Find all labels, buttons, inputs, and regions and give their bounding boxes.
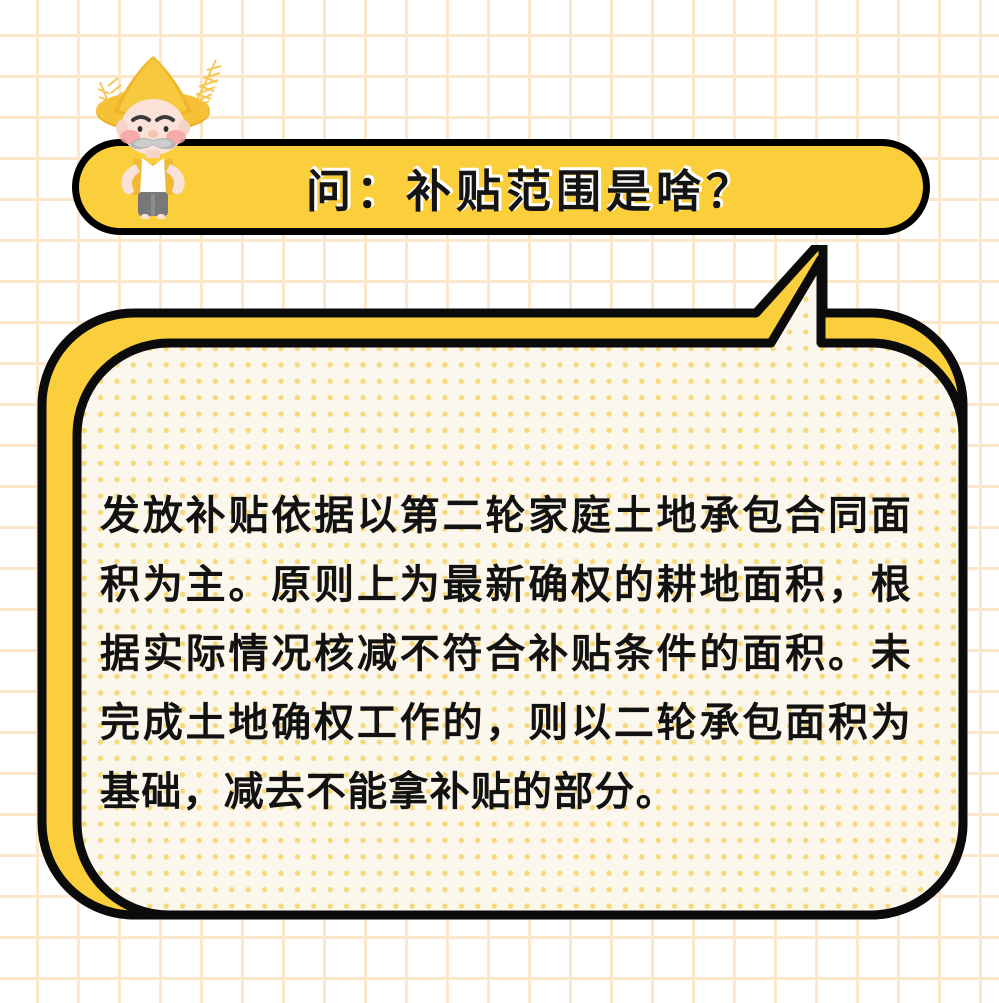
farmer-mascot-icon — [78, 44, 228, 219]
answer-paragraph: 发放补贴依据以第二轮家庭土地承包合同面积为主。原则上为最新确权的耕地面积，根据实… — [100, 482, 912, 827]
poster-canvas: 发放补贴依据以第二轮家庭土地承包合同面积为主。原则上为最新确权的耕地面积，根据实… — [0, 0, 999, 1003]
answer-body-text: 发放补贴依据以第二轮家庭土地承包合同面积为主。原则上为最新确权的耕地面积，根据实… — [100, 482, 912, 827]
